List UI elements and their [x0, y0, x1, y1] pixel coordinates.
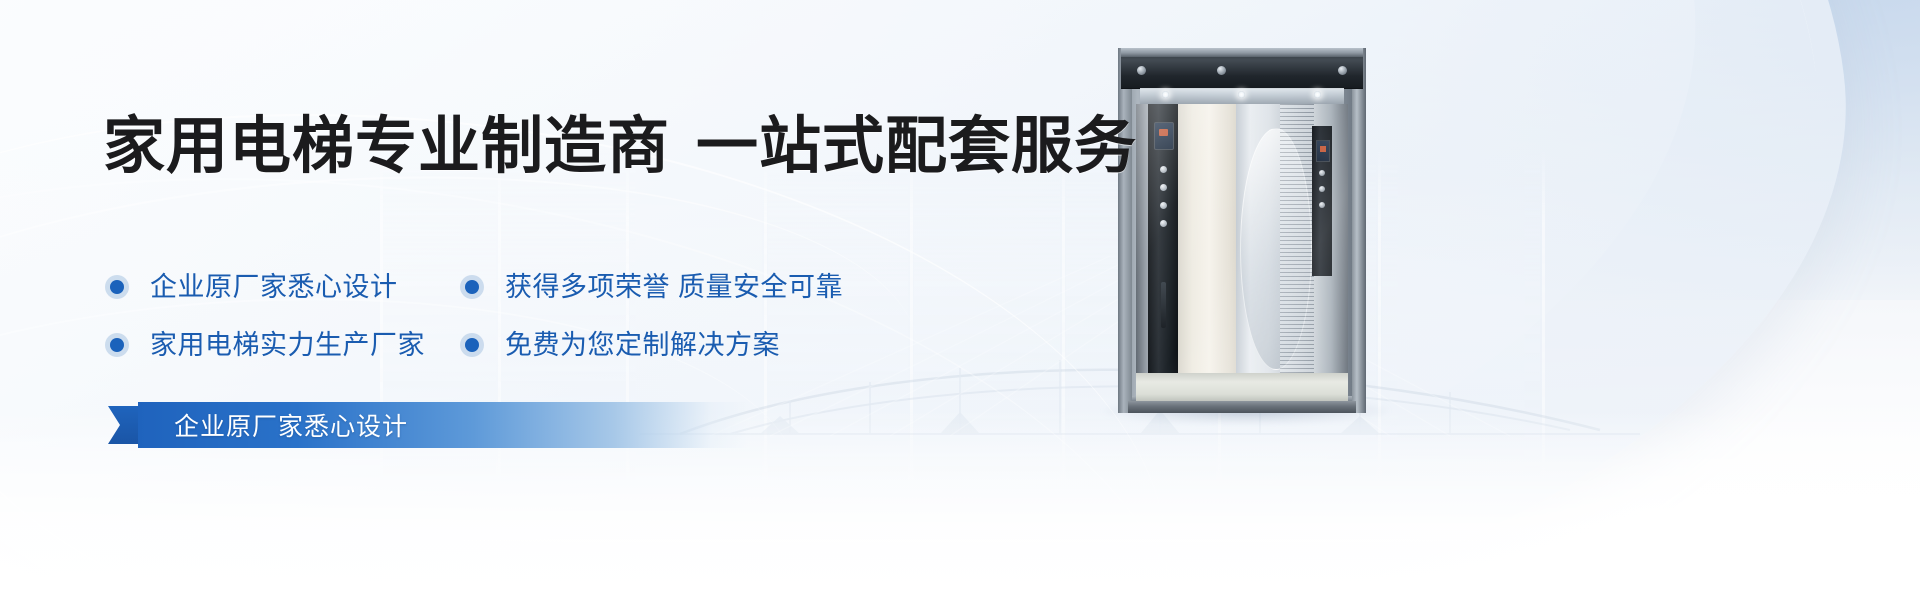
bullet-dot-icon [465, 280, 479, 294]
ribbon-notch-tab [108, 406, 142, 444]
feature-label: 免费为您定制解决方案 [505, 330, 780, 360]
elevator-right-post [1352, 48, 1366, 413]
feature-label: 获得多项荣誉 质量安全可靠 [505, 272, 843, 302]
header-bolt-icon [1338, 66, 1347, 75]
elevator-floor-button [1160, 166, 1167, 173]
feature-label: 家用电梯实力生产厂家 [150, 330, 425, 360]
banner-text-content: 家用电梯专业制造商一站式配套服务 企业原厂家悉心设计 获得多项荣誉 质量安全可靠… [0, 0, 1100, 600]
bullet-dot-icon [110, 280, 124, 294]
elevator-floor-button [1160, 220, 1167, 227]
elevator-secondary-button [1319, 170, 1325, 176]
header-bolt-icon [1137, 66, 1146, 75]
ribbon-label: 企业原厂家悉心设计 [174, 402, 408, 448]
elevator-right-glass-panel [1236, 104, 1314, 377]
elevator-secondary-button [1319, 202, 1325, 208]
highlight-ribbon: 企业原厂家悉心设计 [108, 402, 748, 448]
elevator-floor-button [1160, 184, 1167, 191]
promo-banner: 家用电梯专业制造商一站式配套服务 企业原厂家悉心设计 获得多项荣誉 质量安全可靠… [0, 0, 1920, 600]
ceiling-lamp-icon [1162, 91, 1169, 98]
feature-row: 企业原厂家悉心设计 获得多项荣誉 质量安全可靠 [110, 258, 950, 316]
elevator-secondary-button [1319, 186, 1325, 192]
elevator-header-box [1121, 48, 1363, 89]
elevator-display-screen [1154, 122, 1174, 150]
home-elevator-cabin-photo [1118, 48, 1366, 413]
elevator-header-trim [1121, 48, 1363, 57]
bullet-dot-icon [110, 338, 124, 352]
elevator-cabin-interior [1136, 104, 1348, 377]
elevator-secondary-display [1316, 140, 1330, 162]
elevator-cabin-floor [1136, 373, 1348, 403]
feature-item: 企业原厂家悉心设计 [110, 272, 465, 302]
page-title: 家用电梯专业制造商一站式配套服务 [103, 112, 1137, 182]
header-bolt-icon [1217, 66, 1226, 75]
ceiling-lamp-icon [1238, 91, 1245, 98]
elevator-floor-button [1160, 202, 1167, 209]
elevator-ribbed-texture [1280, 104, 1314, 377]
elevator-left-post [1118, 48, 1132, 413]
elevator-handrail [1161, 282, 1166, 328]
elevator-control-panel-pillar [1148, 104, 1178, 377]
feature-list: 企业原厂家悉心设计 获得多项荣誉 质量安全可靠 家用电梯实力生产厂家 免费为您定… [110, 258, 950, 374]
feature-row: 家用电梯实力生产厂家 免费为您定制解决方案 [110, 316, 950, 374]
feature-item: 获得多项荣誉 质量安全可靠 [465, 272, 843, 302]
feature-item: 免费为您定制解决方案 [465, 330, 780, 360]
ceiling-lamp-icon [1314, 91, 1321, 98]
elevator-secondary-control-panel [1312, 126, 1332, 276]
elevator-base-plinth [1128, 401, 1356, 413]
feature-label: 企业原厂家悉心设计 [150, 272, 398, 302]
headline-part-1: 家用电梯专业制造商 [103, 112, 670, 181]
feature-item: 家用电梯实力生产厂家 [110, 330, 465, 360]
headline-part-2: 一站式配套服务 [696, 112, 1137, 181]
bullet-dot-icon [465, 338, 479, 352]
